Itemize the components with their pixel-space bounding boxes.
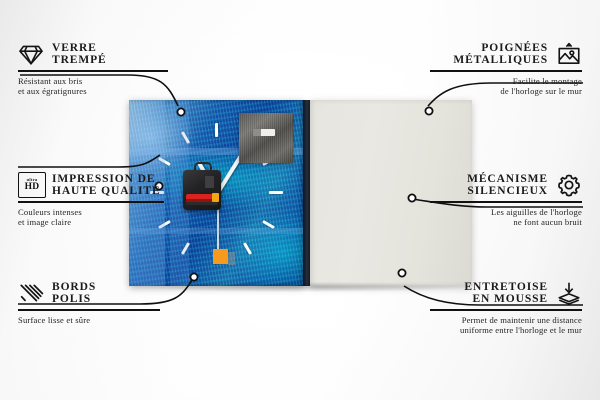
callout-title: IMPRESSION DE HAUTE QUALITÉ [52, 173, 161, 198]
callout-divider [18, 70, 168, 72]
spacer-arrow-icon [556, 280, 582, 306]
metal-hanger-plate [239, 113, 293, 163]
callout-mecanisme-silencieux[interactable]: MÉCANISME SILENCIEUX Les aiguilles de l'… [430, 172, 582, 227]
callout-description: Couleurs intenses et image claire [18, 207, 164, 227]
callout-description: Les aiguilles de l'horloge ne font aucun… [430, 207, 582, 227]
callout-title: POIGNÉES MÉTALLIQUES [453, 42, 548, 67]
callout-divider [430, 309, 582, 311]
callout-description: Permet de maintenir une distance uniform… [430, 315, 582, 335]
clock-tick [262, 220, 275, 229]
callout-header: MÉCANISME SILENCIEUX [430, 172, 582, 198]
callout-header: ENTRETOISE EN MOUSSE [430, 280, 582, 306]
infographic-canvas: VERRE TREMPÉ Résistant aux bris et aux é… [0, 0, 600, 400]
gear-icon [556, 172, 582, 198]
foam-spacer-shadow [228, 252, 235, 265]
clock-tick [181, 131, 190, 144]
callout-header: POIGNÉES MÉTALLIQUES [430, 41, 582, 67]
callout-entretoise-en-mousse[interactable]: ENTRETOISE EN MOUSSE Permet de maintenir… [430, 280, 582, 335]
callout-title: VERRE TREMPÉ [52, 42, 107, 67]
callout-description: Facilite le montage de l'horloge sur le … [430, 76, 582, 96]
battery-terminal [212, 193, 219, 202]
ultra-hd-icon: ultra HD [18, 172, 44, 198]
diamond-icon [18, 41, 44, 67]
callout-divider [18, 309, 160, 311]
picture-frame-icon [556, 41, 582, 67]
clock-tick [269, 191, 283, 194]
callout-description: Surface lisse et sûre [18, 315, 160, 325]
callout-header: ultra HD IMPRESSION DE HAUTE QUALITÉ [18, 172, 164, 198]
callout-verre-trempe[interactable]: VERRE TREMPÉ Résistant aux bris et aux é… [18, 41, 168, 96]
clock-tick [243, 242, 252, 255]
clock-tick [215, 123, 218, 137]
callout-impression-haute-qualite[interactable]: ultra HD IMPRESSION DE HAUTE QUALITÉ Cou… [18, 172, 164, 227]
callout-title: ENTRETOISE EN MOUSSE [464, 281, 548, 306]
product-shadow [135, 282, 470, 292]
callout-divider [18, 201, 164, 203]
clock-tick [181, 242, 190, 255]
ultra-hd-label: HD [25, 183, 40, 193]
mechanism-detail [205, 176, 214, 188]
callout-poignees-metalliques[interactable]: POIGNÉES MÉTALLIQUES Facilite le montage… [430, 41, 582, 96]
callout-description: Résistant aux bris et aux égratignures [18, 76, 168, 96]
callout-header: VERRE TREMPÉ [18, 41, 168, 67]
product-image [129, 100, 472, 286]
callout-title: MÉCANISME SILENCIEUX [467, 173, 548, 198]
callout-divider [430, 201, 582, 203]
callout-header: BORDS POLIS [18, 280, 160, 306]
callout-bords-polis[interactable]: BORDS POLIS Surface lisse et sûre [18, 280, 160, 325]
callout-title: BORDS POLIS [52, 281, 96, 306]
hanger-slot [253, 129, 275, 136]
clock-tick [158, 157, 171, 166]
callout-divider [430, 70, 582, 72]
foam-spacer [213, 249, 228, 264]
polished-edges-icon [18, 280, 44, 306]
